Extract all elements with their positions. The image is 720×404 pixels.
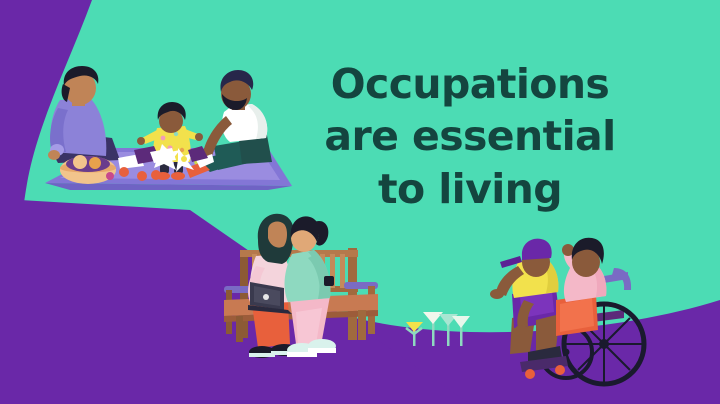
picnic-bread xyxy=(73,155,87,169)
adult-left-hand xyxy=(48,150,60,160)
flower-stem xyxy=(432,322,435,346)
picnic-grape xyxy=(119,167,129,177)
picnic-basket-opening xyxy=(66,156,110,172)
skateboarder-hand-front xyxy=(490,289,504,299)
skateboarder-hand-lower xyxy=(515,325,527,335)
picnic-berry xyxy=(106,172,114,180)
laptop-logo xyxy=(263,294,269,300)
mint-person-shoe-sole-right xyxy=(308,348,336,353)
toddler-hand-left xyxy=(137,137,145,145)
picnic-fruit xyxy=(89,157,101,169)
wheelchair-hub-small xyxy=(563,349,570,356)
wheelchair-user-leg-highlight xyxy=(560,298,594,332)
skateboard-wheel-back xyxy=(555,365,565,375)
toddler-hand-right xyxy=(195,133,203,141)
mint-person-wristband xyxy=(324,276,334,286)
bench-leg-front-left xyxy=(236,316,243,342)
illustration-artwork xyxy=(0,0,720,404)
picnic-flower-center xyxy=(181,156,187,162)
bench-slat xyxy=(340,254,345,288)
skateboard-wheel-front xyxy=(525,369,535,379)
slide-canvas: Occupations are essential to living xyxy=(0,0,720,404)
bench-post-right xyxy=(348,248,357,340)
picnic-grape xyxy=(137,171,147,181)
toddler-pattern-dot xyxy=(161,136,166,141)
bench-leg-front-right xyxy=(358,310,366,340)
toddler-shoe-right xyxy=(171,172,185,180)
picnic-grape xyxy=(151,170,161,180)
flower-stem xyxy=(460,326,463,346)
flower-stem xyxy=(447,324,450,346)
